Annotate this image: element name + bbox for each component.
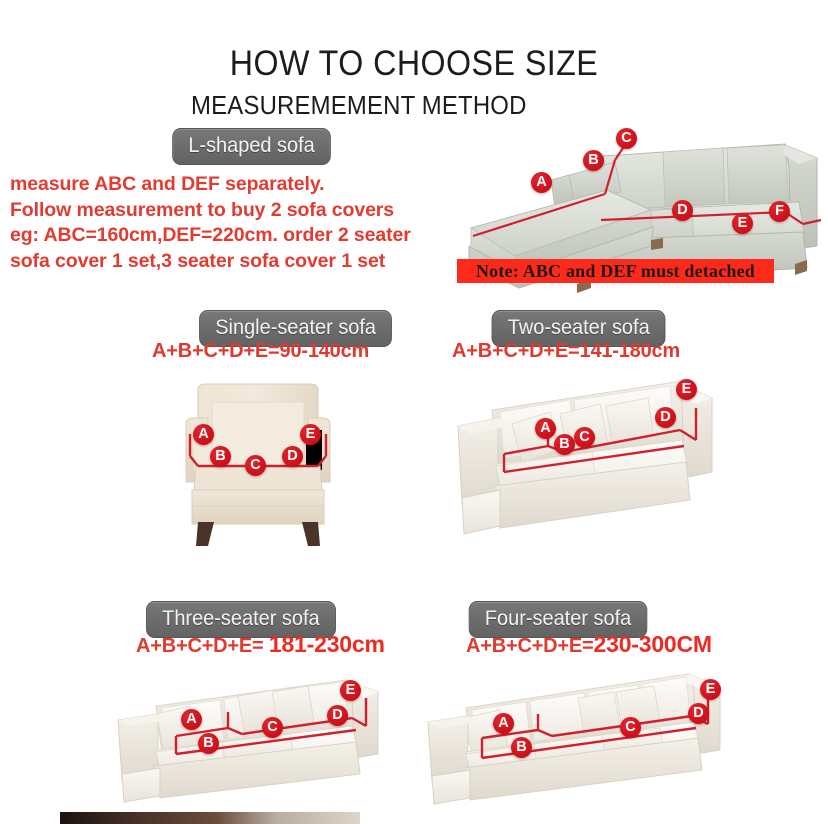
size-value-single: 90-140cm bbox=[280, 340, 370, 362]
marker-two-a: A bbox=[535, 418, 556, 439]
marker-single-a: A bbox=[193, 424, 214, 445]
instruction-line-3: eg: ABC=160cm,DEF=220cm. order 2 seater bbox=[10, 223, 480, 249]
marker-l-d: D bbox=[672, 200, 693, 221]
size-prefix-two: A+B+C+D+E= bbox=[452, 340, 580, 362]
page-subtitle: MEASUREMEMENT METHOD bbox=[33, 90, 795, 121]
size-caption-two-seater: A+B+C+D+E=141-180cm bbox=[452, 340, 680, 363]
size-value-three: 181-230cm bbox=[269, 631, 385, 657]
marker-three-e: E bbox=[340, 680, 361, 701]
marker-four-a: A bbox=[493, 713, 514, 734]
note-bar: Note: ABC and DEF must detached bbox=[457, 259, 774, 283]
marker-l-b: B bbox=[583, 150, 604, 171]
marker-l-c: C bbox=[616, 128, 637, 149]
size-caption-three-seater: A+B+C+D+E= 181-230cm bbox=[136, 631, 385, 658]
size-caption-four-seater: A+B+C+D+E=230-300CM bbox=[466, 631, 712, 658]
two-seater-illustration bbox=[444, 368, 744, 548]
size-prefix-three: A+B+C+D+E= bbox=[136, 635, 269, 657]
size-caption-single-seater: A+B+C+D+E=90-140cm bbox=[152, 340, 369, 363]
instruction-line-2: Follow measurement to buy 2 sofa covers bbox=[10, 198, 480, 224]
marker-four-e: E bbox=[700, 679, 721, 700]
marker-three-a: A bbox=[181, 709, 202, 730]
marker-three-b: B bbox=[198, 733, 219, 754]
marker-two-b: B bbox=[554, 434, 575, 455]
marker-l-e: E bbox=[732, 213, 753, 234]
marker-four-b: B bbox=[511, 737, 532, 758]
infographic-canvas: HOW TO CHOOSE SIZE MEASUREMEMENT METHOD … bbox=[0, 0, 828, 824]
marker-four-c: C bbox=[620, 717, 641, 738]
marker-four-d: D bbox=[688, 703, 709, 724]
next-image-sliver bbox=[60, 812, 360, 824]
size-prefix-single: A+B+C+D+E= bbox=[152, 340, 280, 362]
marker-two-d: D bbox=[655, 407, 676, 428]
marker-single-c: C bbox=[245, 455, 266, 476]
marker-two-c: C bbox=[574, 427, 595, 448]
marker-l-a: A bbox=[531, 172, 552, 193]
size-value-four: 230-300CM bbox=[594, 631, 712, 657]
size-prefix-four: A+B+C+D+E= bbox=[466, 635, 594, 657]
marker-single-e: E bbox=[300, 424, 321, 445]
note-text: Note: ABC and DEF must detached bbox=[476, 261, 755, 282]
marker-two-e: E bbox=[676, 379, 697, 400]
instruction-line-4: sofa cover 1 set,3 seater sofa cover 1 s… bbox=[10, 249, 480, 275]
size-value-two: 141-180cm bbox=[580, 340, 681, 362]
four-seater-illustration bbox=[420, 662, 740, 807]
marker-l-f: F bbox=[769, 201, 790, 222]
marker-single-b: B bbox=[210, 446, 231, 467]
marker-three-c: C bbox=[262, 717, 283, 738]
measurement-instructions: measure ABC and DEF separately. Follow m… bbox=[10, 172, 480, 274]
page-title: HOW TO CHOOSE SIZE bbox=[33, 44, 795, 84]
marker-three-d: D bbox=[327, 705, 348, 726]
marker-single-d: D bbox=[282, 446, 303, 467]
section-header-l-shaped: L-shaped sofa bbox=[172, 128, 331, 165]
instruction-line-1: measure ABC and DEF separately. bbox=[10, 172, 480, 198]
